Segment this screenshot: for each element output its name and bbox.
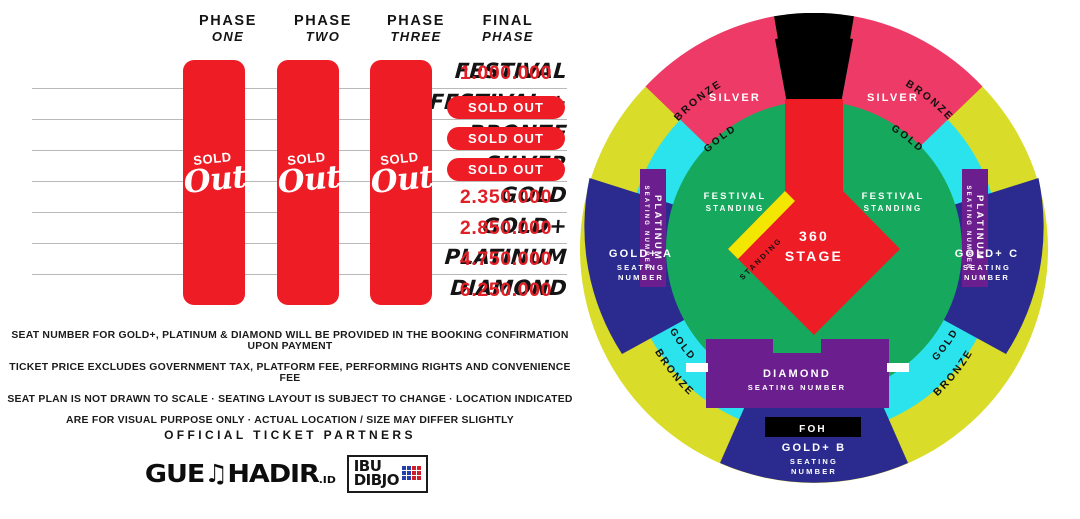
sold-out-bar-phase-one: SOLD Out bbox=[183, 60, 245, 305]
gue-hadir-logo-text-1: GUE bbox=[145, 459, 204, 488]
final-status-festival-plus: SOLD OUT bbox=[447, 96, 565, 119]
platinum-right-line1: PLATINUM bbox=[974, 195, 985, 261]
stage-label-line2: STAGE bbox=[785, 248, 843, 264]
platinum-left-line1: PLATINUM bbox=[652, 195, 663, 261]
goldplus-a-line3: NUMBER bbox=[618, 273, 664, 282]
sold-out-stamp: SOLD Out bbox=[181, 149, 247, 199]
diamond-aisle-left bbox=[686, 363, 708, 372]
column-header-final-phase: FINAL PHASE bbox=[460, 14, 556, 45]
diamond-label-line1: DIAMOND bbox=[763, 368, 831, 380]
note-line: TICKET PRICE EXCLUDES GOVERNMENT TAX, PL… bbox=[0, 362, 580, 384]
final-price-diamond: 6.250.000 bbox=[445, 279, 567, 302]
sold-out-bar-phase-two: SOLD Out bbox=[277, 60, 339, 305]
festival-standing-left-line1: FESTIVAL bbox=[704, 191, 767, 202]
column-header-line2: PHASE bbox=[460, 29, 556, 45]
final-price-festival: 1.000.000 bbox=[445, 62, 567, 85]
final-status-bronze: SOLD OUT bbox=[447, 127, 565, 150]
gue-hadir-logo-suffix: .ID bbox=[319, 475, 336, 486]
platinum-left-line2: SEATING NUMBER bbox=[643, 185, 649, 270]
column-header-line1: PHASE bbox=[368, 14, 464, 29]
ticket-pricing-seatmap-graphic: PHASE ONE PHASE TWO PHASE THREE FINAL PH… bbox=[0, 0, 1080, 519]
final-price-gold-plus: 2.850.000 bbox=[445, 217, 567, 240]
goldplus-c-label: GOLD+ C bbox=[955, 248, 1020, 260]
partners-title: OFFICIAL TICKET PARTNERS bbox=[0, 428, 580, 442]
column-header-line1: PHASE bbox=[180, 14, 276, 29]
venue-seat-map: SILVER SILVER BRONZE BRONZE BRONZE BRONZ… bbox=[578, 13, 1050, 485]
ibu-dibjo-logo-text: IBU DIBJO bbox=[354, 459, 399, 488]
gue-hadir-logo: GUE♫HADIR.ID bbox=[145, 461, 336, 486]
sold-out-stamp-line2: Out bbox=[276, 163, 341, 199]
goldplus-b-line3: NUMBER bbox=[791, 467, 837, 476]
disclaimer-notes: SEAT NUMBER FOR GOLD+, PLATINUM & DIAMON… bbox=[0, 330, 580, 436]
silver-label-right: SILVER bbox=[867, 92, 919, 104]
column-header-line1: FINAL bbox=[460, 14, 556, 29]
column-header-line2: TWO bbox=[275, 29, 371, 45]
column-header-line2: ONE bbox=[180, 29, 276, 45]
column-header-phase-three: PHASE THREE bbox=[368, 14, 464, 45]
platinum-label-right-group: PLATINUM SEATING NUMBER bbox=[965, 185, 985, 270]
partner-logos: GUE♫HADIR.ID IBU DIBJO bbox=[0, 455, 580, 493]
official-ticket-partners: OFFICIAL TICKET PARTNERS GUE♫HADIR.ID IB… bbox=[0, 428, 580, 493]
goldplus-c-line3: NUMBER bbox=[964, 273, 1010, 282]
note-line: SEAT PLAN IS NOT DRAWN TO SCALE · SEATIN… bbox=[0, 394, 580, 405]
platinum-label-left-group: PLATINUM SEATING NUMBER bbox=[643, 185, 663, 270]
column-header-phase-two: PHASE TWO bbox=[275, 14, 371, 45]
sold-out-stamp-line2: Out bbox=[182, 163, 247, 199]
column-header-line1: PHASE bbox=[275, 14, 371, 29]
goldplus-b-label: GOLD+ B bbox=[782, 442, 847, 454]
gue-hadir-logo-glyph: ♫ bbox=[204, 459, 227, 488]
final-status-silver: SOLD OUT bbox=[447, 158, 565, 181]
note-line: ARE FOR VISUAL PURPOSE ONLY · ACTUAL LOC… bbox=[0, 415, 580, 426]
diamond-label-line2: SEATING NUMBER bbox=[748, 383, 847, 392]
goldplus-a-line2: SEATING bbox=[617, 263, 665, 272]
ibu-dibjo-logo: IBU DIBJO bbox=[347, 455, 428, 493]
note-line: SEAT NUMBER FOR GOLD+, PLATINUM & DIAMON… bbox=[0, 330, 580, 352]
price-table-panel: PHASE ONE PHASE TWO PHASE THREE FINAL PH… bbox=[0, 0, 580, 519]
goldplus-b-line2: SEATING bbox=[790, 457, 838, 466]
festival-standing-right-line2: STANDING bbox=[864, 204, 923, 213]
foh-label: FOH bbox=[799, 424, 827, 435]
sold-out-stamp: SOLD Out bbox=[368, 149, 434, 199]
ibu-dibjo-flag-icon bbox=[402, 466, 421, 480]
sold-out-stamp-line2: Out bbox=[369, 163, 434, 199]
sold-out-stamp: SOLD Out bbox=[275, 149, 341, 199]
column-header-phase-one: PHASE ONE bbox=[180, 14, 276, 45]
column-header-line2: THREE bbox=[368, 29, 464, 45]
festival-standing-right-line1: FESTIVAL bbox=[862, 191, 925, 202]
silver-label-left: SILVER bbox=[709, 92, 761, 104]
gue-hadir-logo-text-2: HADIR bbox=[227, 459, 318, 488]
festival-standing-left-line2: STANDING bbox=[706, 204, 765, 213]
ibu-dibjo-line2: DIBJO bbox=[354, 473, 399, 487]
sold-out-bar-phase-three: SOLD Out bbox=[370, 60, 432, 305]
final-price-gold: 2.350.000 bbox=[445, 186, 567, 209]
stage-label-line1: 360 bbox=[799, 228, 829, 244]
diamond-aisle-right bbox=[887, 363, 909, 372]
final-price-platinum: 4.750.000 bbox=[445, 248, 567, 271]
platinum-right-line2: SEATING NUMBER bbox=[965, 185, 971, 270]
